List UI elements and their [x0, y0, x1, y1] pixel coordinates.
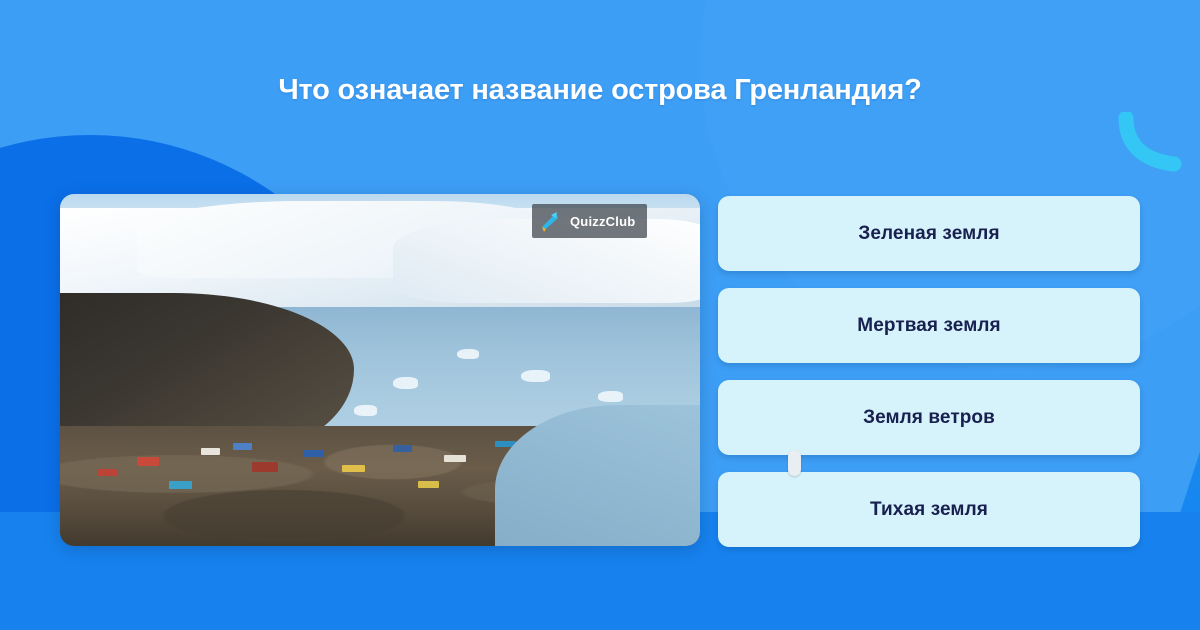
- cyan-crescent-arc-icon: [1118, 112, 1184, 174]
- photo-house: [418, 481, 438, 488]
- answer-option-3[interactable]: Земля ветров: [718, 380, 1140, 455]
- photo-iceberg: [393, 377, 419, 389]
- answer-option-4[interactable]: Тихая земля: [718, 472, 1140, 547]
- photo-house: [98, 469, 117, 476]
- photo-house: [393, 445, 412, 452]
- quiz-card: Что означает название острова Гренландия…: [0, 0, 1200, 630]
- question-image: QuizzClub: [60, 194, 700, 546]
- answer-label: Мертвая земля: [857, 315, 1000, 337]
- photo-house: [342, 465, 365, 473]
- photo-iceberg: [457, 349, 479, 360]
- photo-house: [233, 443, 252, 450]
- photo-house: [137, 457, 159, 465]
- answer-label: Земля ветров: [863, 407, 995, 429]
- scrollbar-thumb[interactable]: [788, 450, 801, 476]
- answer-label: Тихая земля: [870, 499, 988, 521]
- photo-house: [444, 455, 466, 462]
- photo-house: [169, 481, 192, 488]
- photo-house: [303, 450, 323, 457]
- watermark: QuizzClub: [532, 204, 647, 238]
- answer-list: Зеленая земля Мертвая земля Земля ветров…: [718, 196, 1140, 547]
- photo-house: [252, 462, 278, 472]
- quizzclub-arrow-logo-icon: [537, 208, 563, 234]
- photo-iceberg: [598, 391, 624, 402]
- watermark-brand: QuizzClub: [570, 214, 635, 229]
- page-title: Что означает название острова Гренландия…: [0, 74, 1200, 107]
- photo-iceberg: [354, 405, 376, 416]
- photo-house: [201, 448, 220, 455]
- answer-label: Зеленая земля: [858, 223, 999, 245]
- photo-iceberg: [521, 370, 550, 382]
- answer-option-2[interactable]: Мертвая земля: [718, 288, 1140, 363]
- answer-option-1[interactable]: Зеленая земля: [718, 196, 1140, 271]
